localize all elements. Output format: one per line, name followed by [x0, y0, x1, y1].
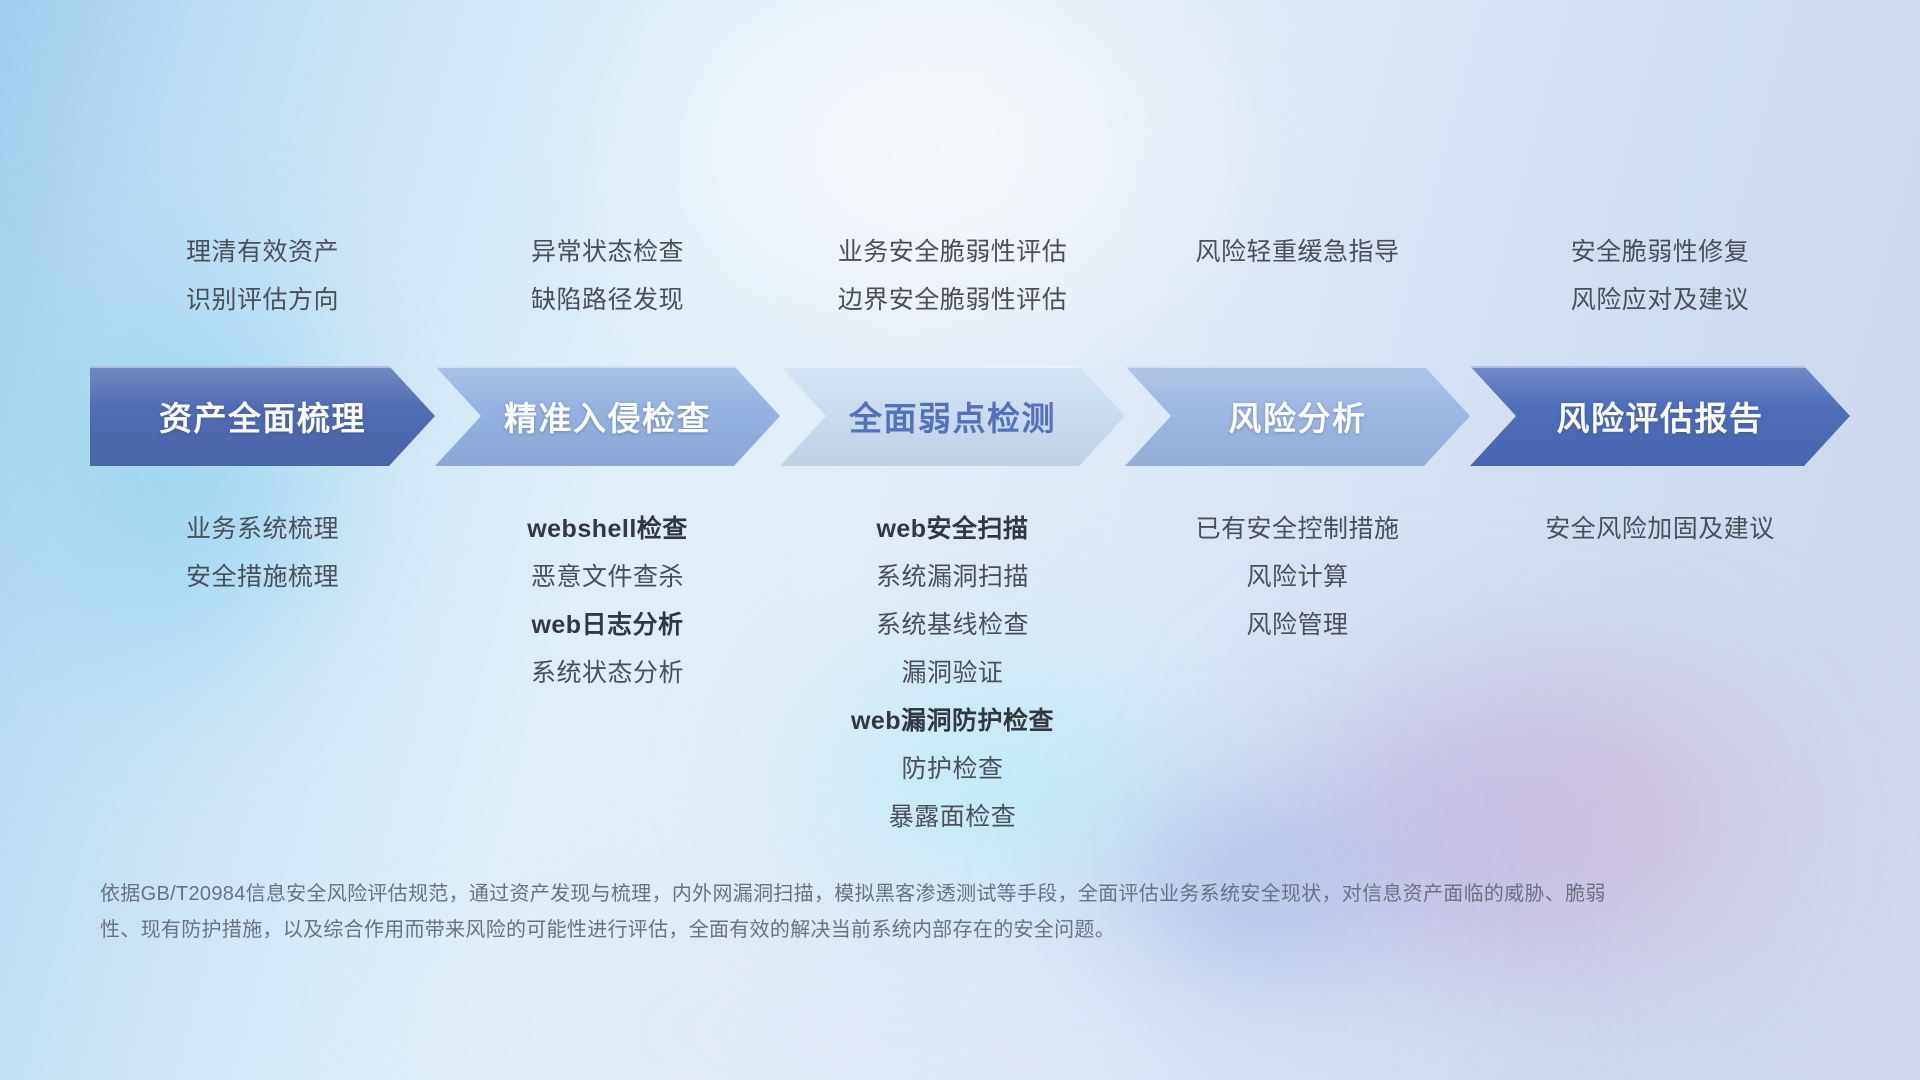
- chevron-step-band: 资产全面梳理精准入侵检查全面弱点检测风险分析风险评估报告: [90, 366, 1850, 466]
- caption-item: 漏洞验证: [901, 649, 1003, 697]
- caption-item: web日志分析: [531, 601, 683, 649]
- caption-item: 安全脆弱性修复: [1571, 228, 1750, 276]
- bottom-captions-weakness-detection: web安全扫描系统漏洞扫描系统基线检查漏洞验证web漏洞防护检查防护检查暴露面检…: [780, 505, 1125, 841]
- bottom-captions-row: 业务系统梳理安全措施梳理webshell检查恶意文件查杀web日志分析系统状态分…: [90, 505, 1850, 841]
- top-captions-asset-inventory: 理清有效资产识别评估方向: [90, 228, 435, 324]
- chevron-step-risk-analysis[interactable]: 风险分析: [1125, 366, 1470, 466]
- caption-item: 风险轻重缓急指导: [1195, 228, 1399, 276]
- chevron-label: 全面弱点检测: [849, 392, 1056, 440]
- caption-item: 业务安全脆弱性评估: [838, 228, 1068, 276]
- bottom-captions-assessment-report: 安全风险加固及建议: [1470, 505, 1850, 553]
- chevron-label: 风险评估报告: [1557, 392, 1764, 440]
- caption-item: 异常状态检查: [531, 228, 684, 276]
- caption-item: 风险管理: [1246, 601, 1348, 649]
- chevron-step-intrusion-check[interactable]: 精准入侵检查: [435, 366, 780, 466]
- caption-item: 安全风险加固及建议: [1545, 505, 1775, 553]
- caption-item: 安全措施梳理: [186, 553, 339, 601]
- chevron-step-assessment-report[interactable]: 风险评估报告: [1470, 366, 1850, 466]
- bottom-captions-asset-inventory: 业务系统梳理安全措施梳理: [90, 505, 435, 601]
- top-captions-risk-analysis: 风险轻重缓急指导: [1125, 228, 1470, 324]
- caption-item: 系统漏洞扫描: [876, 553, 1029, 601]
- chevron-label: 精准入侵检查: [504, 392, 711, 440]
- caption-item: 防护检查: [901, 745, 1003, 793]
- slide-canvas: 理清有效资产识别评估方向异常状态检查缺陷路径发现业务安全脆弱性评估边界安全脆弱性…: [0, 0, 1920, 1080]
- caption-item: 系统状态分析: [531, 649, 684, 697]
- chevron-label: 风险分析: [1229, 392, 1367, 440]
- process-diagram: 理清有效资产识别评估方向异常状态检查缺陷路径发现业务安全脆弱性评估边界安全脆弱性…: [0, 0, 1920, 1080]
- chevron-step-asset-inventory[interactable]: 资产全面梳理: [90, 366, 435, 466]
- bottom-captions-intrusion-check: webshell检查恶意文件查杀web日志分析系统状态分析: [435, 505, 780, 697]
- caption-item: 业务系统梳理: [186, 505, 339, 553]
- top-captions-intrusion-check: 异常状态检查缺陷路径发现: [435, 228, 780, 324]
- caption-item: web漏洞防护检查: [851, 697, 1054, 745]
- footer-description: 依据GB/T20984信息安全风险评估规范，通过资产发现与梳理，内外网漏洞扫描，…: [100, 876, 1620, 948]
- chevron-label: 资产全面梳理: [159, 392, 366, 440]
- bottom-captions-risk-analysis: 已有安全控制措施风险计算风险管理: [1125, 505, 1470, 649]
- top-captions-assessment-report: 安全脆弱性修复风险应对及建议: [1470, 228, 1850, 324]
- top-captions-row: 理清有效资产识别评估方向异常状态检查缺陷路径发现业务安全脆弱性评估边界安全脆弱性…: [90, 228, 1850, 324]
- chevron-step-weakness-detection[interactable]: 全面弱点检测: [780, 366, 1125, 466]
- caption-item: 识别评估方向: [186, 276, 339, 324]
- caption-item: webshell检查: [527, 505, 688, 553]
- top-captions-weakness-detection: 业务安全脆弱性评估边界安全脆弱性评估: [780, 228, 1125, 324]
- caption-item: 风险计算: [1246, 553, 1348, 601]
- caption-item: 系统基线检查: [876, 601, 1029, 649]
- caption-item: 恶意文件查杀: [531, 553, 684, 601]
- caption-item: 风险应对及建议: [1571, 276, 1750, 324]
- caption-item: 边界安全脆弱性评估: [838, 276, 1068, 324]
- caption-item: 暴露面检查: [889, 793, 1017, 841]
- caption-item: 缺陷路径发现: [531, 276, 684, 324]
- caption-item: web安全扫描: [876, 505, 1028, 553]
- caption-item: 理清有效资产: [186, 228, 339, 276]
- caption-item: 已有安全控制措施: [1195, 505, 1399, 553]
